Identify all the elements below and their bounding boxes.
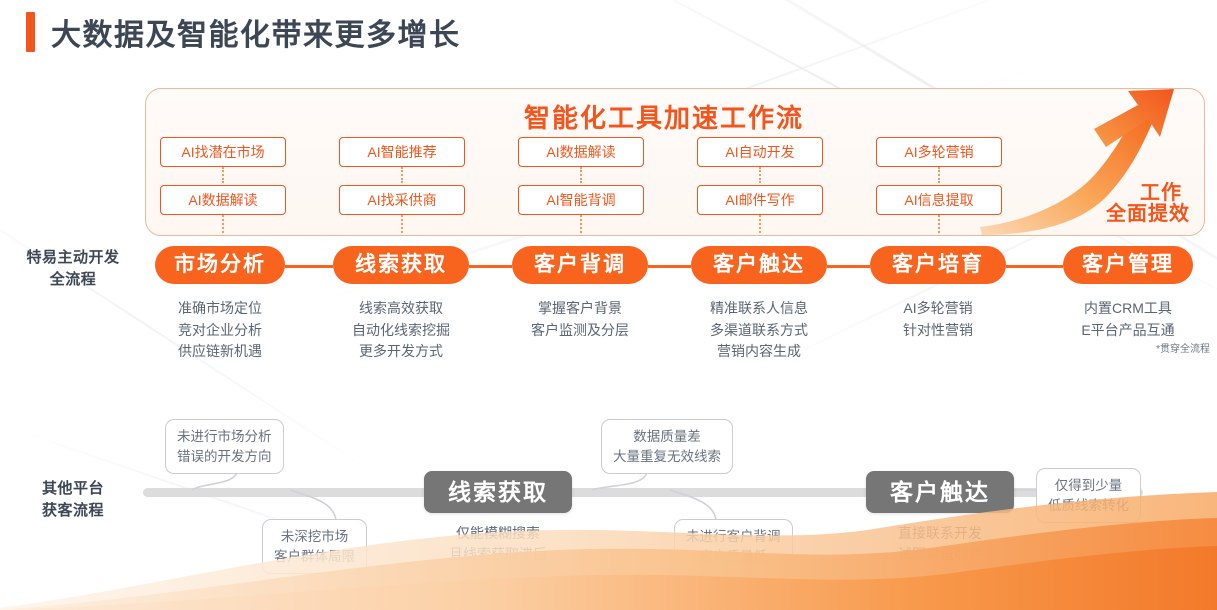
alt-flow-callout[interactable]: 仅得到少量低质线索转化 bbox=[1036, 468, 1141, 523]
alt-flow-step-desc: 直接联系开发试图以量取胜 bbox=[850, 523, 1030, 565]
ai-tag-dotted-connector bbox=[580, 215, 582, 236]
main-flow-step-desc-line: 更多开发方式 bbox=[311, 341, 491, 363]
ai-tag-dotted-connector bbox=[580, 167, 582, 183]
main-flow-step-desc-line: 针对性营销 bbox=[848, 320, 1028, 342]
main-flow-step-desc: AI多轮营销针对性营销 bbox=[848, 298, 1028, 341]
main-flow-step-pill[interactable]: 客户触达 bbox=[691, 246, 827, 284]
main-flow-step-desc-line: 精准联系人信息 bbox=[669, 298, 849, 320]
ai-tag[interactable]: AI智能背调 bbox=[518, 185, 644, 215]
callout-line: 未深挖市场 bbox=[274, 527, 355, 547]
callout-line: 客户群体局限 bbox=[274, 547, 355, 567]
ai-tag-dotted-connector bbox=[222, 215, 224, 236]
main-flow-step-desc-line: 供应链新机遇 bbox=[130, 341, 310, 363]
ai-tag-column: AI自动开发AI邮件写作 bbox=[697, 137, 823, 215]
main-flow-step-desc-line: AI多轮营销 bbox=[848, 298, 1028, 320]
ai-tag-column: AI找潜在市场AI数据解读 bbox=[160, 137, 286, 215]
main-flow-step-desc: 内置CRM工具E平台产品互通*贯穿全流程 bbox=[1038, 298, 1217, 358]
main-flow-step-desc-line: 客户监测及分层 bbox=[490, 320, 670, 342]
alt-flow-label-line2: 获客流程 bbox=[8, 500, 138, 522]
callout-line: 大量重复无效线索 bbox=[613, 447, 721, 467]
callout-line: 未进行客户背调 bbox=[686, 527, 781, 547]
ai-tools-panel: 智能化工具加速工作流 工作 全面提效 AI找潜在市场AI数据解读AI智能推 bbox=[145, 88, 1205, 236]
alt-flow-label-line1: 其他平台 bbox=[8, 478, 138, 500]
main-flow-connector bbox=[648, 265, 691, 268]
main-flow-label-line2: 全流程 bbox=[8, 269, 138, 291]
arrow-caption: 工作 全面提效 bbox=[1106, 183, 1190, 225]
alt-flow-callout[interactable]: 未深挖市场客户群体局限 bbox=[262, 519, 367, 574]
main-flow-step-note: *贯穿全流程 bbox=[1038, 342, 1217, 358]
main-flow-step-desc: 准确市场定位竞对企业分析供应链新机遇 bbox=[130, 298, 310, 363]
alt-flow-step-desc-line: 直接联系开发 bbox=[850, 523, 1030, 544]
callout-line: 未进行市场分析 bbox=[177, 427, 272, 447]
ai-tag[interactable]: AI邮件写作 bbox=[697, 185, 823, 215]
alt-flow-callout[interactable]: 未进行市场分析错误的开发方向 bbox=[165, 419, 284, 474]
main-flow-step-pill[interactable]: 线索获取 bbox=[333, 246, 469, 284]
main-flow-connector bbox=[1006, 265, 1063, 268]
alt-flow-step-desc-line: 试图以量取胜 bbox=[850, 544, 1030, 565]
alt-flow-label: 其他平台 获客流程 bbox=[8, 478, 138, 522]
main-flow-step-desc: 线索高效获取自动化线索挖掘更多开发方式 bbox=[311, 298, 491, 363]
main-flow-step-pill[interactable]: 客户背调 bbox=[512, 246, 648, 284]
main-flow-label-line1: 特易主动开发 bbox=[8, 247, 138, 269]
ai-tag[interactable]: AI智能推荐 bbox=[339, 137, 465, 167]
callout-line: 低质线索转化 bbox=[1048, 496, 1129, 516]
ai-tag-dotted-connector bbox=[401, 167, 403, 183]
ai-tag-column: AI智能推荐AI找采供商 bbox=[339, 137, 465, 215]
main-flow-step-desc-line: 多渠道联系方式 bbox=[669, 320, 849, 342]
ai-tag[interactable]: AI数据解读 bbox=[518, 137, 644, 167]
main-flow-step-desc-line: 准确市场定位 bbox=[130, 298, 310, 320]
callout-line: 数据质量差 bbox=[613, 427, 721, 447]
ai-tag[interactable]: AI找采供商 bbox=[339, 185, 465, 215]
main-flow-step-desc-line: 营销内容生成 bbox=[669, 341, 849, 363]
callout-line: 客户质量低 bbox=[686, 547, 781, 567]
main-flow-step-pill[interactable]: 客户管理 bbox=[1063, 246, 1193, 284]
alt-flow-step-desc-line: 仅能模糊搜索 bbox=[408, 523, 588, 544]
ai-tag[interactable]: AI找潜在市场 bbox=[160, 137, 286, 167]
main-flow-step-desc-line: E平台产品互通 bbox=[1038, 320, 1217, 342]
main-flow-connector bbox=[285, 265, 333, 268]
slide-canvas: 大数据及智能化带来更多增长 智能化工具加速工作流 工作 全面提效 bbox=[0, 0, 1217, 610]
main-flow-step-desc-line: 内置CRM工具 bbox=[1038, 298, 1217, 320]
callout-line: 仅得到少量 bbox=[1048, 476, 1129, 496]
ai-tag-dotted-connector bbox=[759, 167, 761, 183]
ai-tag[interactable]: AI数据解读 bbox=[160, 185, 286, 215]
alt-flow-step-desc: 仅能模糊搜索且线索获取滞后 bbox=[408, 523, 588, 565]
accent-bar-icon bbox=[26, 12, 35, 52]
ai-panel-title: 智能化工具加速工作流 bbox=[524, 98, 804, 135]
alt-flow-callout[interactable]: 数据质量差大量重复无效线索 bbox=[601, 419, 733, 474]
main-flow-label: 特易主动开发 全流程 bbox=[8, 247, 138, 291]
main-flow-step-desc: 精准联系人信息多渠道联系方式营销内容生成 bbox=[669, 298, 849, 363]
page-title: 大数据及智能化带来更多增长 bbox=[51, 10, 461, 54]
ai-tag[interactable]: AI信息提取 bbox=[876, 185, 1002, 215]
ai-tag-column: AI多轮营销AI信息提取 bbox=[876, 137, 1002, 215]
ai-tag-dotted-connector bbox=[759, 215, 761, 236]
main-flow-step-desc-line: 竞对企业分析 bbox=[130, 320, 310, 342]
main-flow-connector bbox=[827, 265, 870, 268]
main-flow-step-desc-line: 线索高效获取 bbox=[311, 298, 491, 320]
alt-flow-callout[interactable]: 未进行客户背调客户质量低 bbox=[674, 519, 793, 574]
arrow-caption-line2: 全面提效 bbox=[1106, 204, 1190, 225]
callout-line: 错误的开发方向 bbox=[177, 447, 272, 467]
ai-tag-dotted-connector bbox=[401, 215, 403, 236]
arrow-caption-line1: 工作 bbox=[1132, 183, 1190, 204]
main-flow-step-pill[interactable]: 市场分析 bbox=[155, 246, 285, 284]
ai-tag-column: AI数据解读AI智能背调 bbox=[518, 137, 644, 215]
ai-tag[interactable]: AI自动开发 bbox=[697, 137, 823, 167]
main-flow-step-desc-line: 自动化线索挖掘 bbox=[311, 320, 491, 342]
ai-tag-dotted-connector bbox=[222, 167, 224, 183]
alt-flow-step-pill[interactable]: 客户触达 bbox=[866, 471, 1014, 513]
alt-flow-step-pill[interactable]: 线索获取 bbox=[424, 471, 572, 513]
slide-header: 大数据及智能化带来更多增长 bbox=[26, 10, 461, 54]
alt-flow-step-desc-line: 且线索获取滞后 bbox=[408, 544, 588, 565]
main-flow-connector bbox=[469, 265, 512, 268]
main-flow-step-pill[interactable]: 客户培育 bbox=[870, 246, 1006, 284]
ai-tag-dotted-connector bbox=[938, 167, 940, 183]
ai-tag[interactable]: AI多轮营销 bbox=[876, 137, 1002, 167]
main-flow-step-desc-line: 掌握客户背景 bbox=[490, 298, 670, 320]
main-flow-step-desc: 掌握客户背景客户监测及分层 bbox=[490, 298, 670, 341]
ai-tag-dotted-connector bbox=[938, 215, 940, 236]
